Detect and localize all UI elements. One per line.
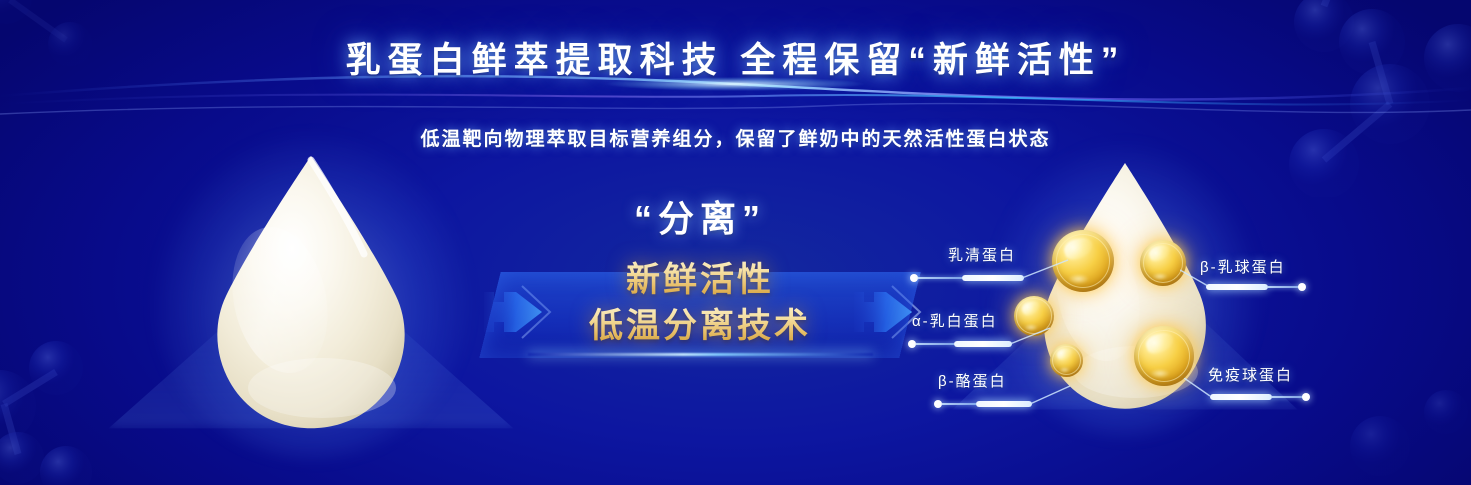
callout-label: 免疫球蛋白 (1208, 364, 1293, 385)
protein-sphere-beta-casein (1050, 344, 1083, 377)
callout-thin-line (1268, 286, 1304, 288)
callout-leader-line (1184, 378, 1218, 402)
callout-dot (1298, 283, 1306, 291)
center-panel-glow-edge (528, 353, 873, 356)
callout-dot (934, 400, 942, 408)
callout-bar (1210, 394, 1272, 400)
protein-sphere-immunoglobulin (1134, 326, 1194, 386)
callout-leader-line (1010, 324, 1056, 350)
molecule-decoration-bottom-left (0, 332, 176, 485)
banner-root: 乳蛋白鲜萃提取科技 全程保留“新鲜活性” 低温靶向物理萃取目标营养组分，保留了鲜… (0, 0, 1471, 485)
callout-bar (976, 401, 1032, 407)
molecule-decoration-bottom-right (1330, 390, 1471, 485)
center-text-block: “分离” 新鲜活性 低温分离技术 (470, 190, 930, 375)
callout-label: β‑乳球蛋白 (1200, 256, 1286, 277)
protein-sphere-whey (1052, 230, 1114, 292)
callout-thin-line (942, 403, 976, 405)
callout-dot (1302, 393, 1310, 401)
callout-bar (954, 341, 1012, 347)
milk-drop-right (1010, 158, 1240, 420)
center-gold-line-1: 新鲜活性 (470, 252, 930, 301)
milk-drop-left (176, 150, 446, 440)
callout-leader-line (1180, 268, 1214, 292)
protein-sphere-beta-lactoglobulin (1140, 240, 1186, 286)
callout-bar (1206, 284, 1268, 290)
callout-label: β‑酪蛋白 (938, 370, 1007, 391)
callout-immunoglobulin: 免疫球蛋白 (1192, 364, 1382, 416)
center-quote-text: “分离” (470, 190, 930, 242)
banner-title: 乳蛋白鲜萃提取科技 全程保留“新鲜活性” (0, 32, 1471, 83)
callout-beta-lactoglobulin: β‑乳球蛋白 (1180, 256, 1370, 308)
callout-leader-line (1022, 256, 1074, 284)
callout-thin-line (1272, 396, 1306, 398)
callout-leader-line (1030, 382, 1076, 410)
center-gold-line-2: 低温分离技术 (470, 298, 930, 347)
callout-label: 乳清蛋白 (948, 244, 1016, 265)
callout-bar (962, 275, 1024, 281)
protein-sphere-alpha-lactalbumin (1014, 296, 1054, 336)
callout-beta-casein: β‑酪蛋白 (920, 370, 1100, 422)
molecule-decoration-top-right (1262, 0, 1471, 197)
banner-subtitle: 低温靶向物理萃取目标营养组分，保留了鲜奶中的天然活性蛋白状态 (0, 124, 1471, 151)
